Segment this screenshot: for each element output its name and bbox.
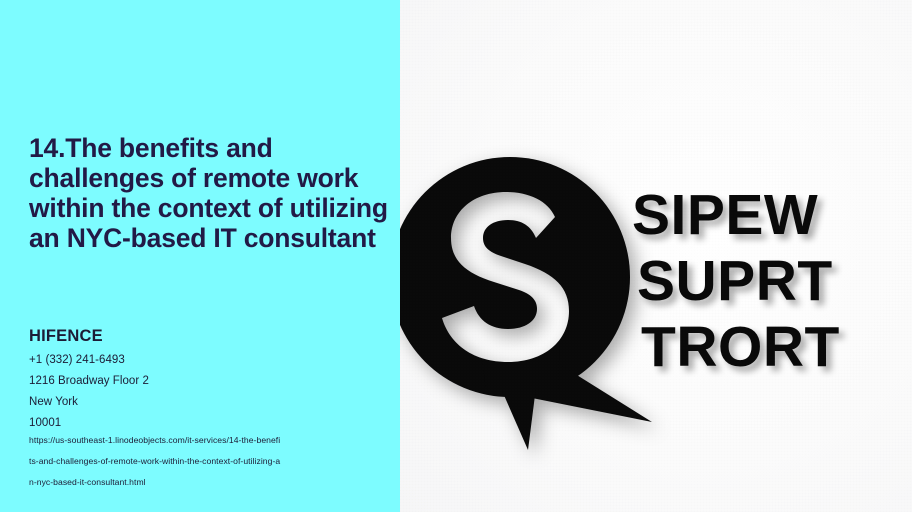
wordmark-line: SIPEW: [632, 182, 912, 248]
wordmark-line: TRORT: [641, 314, 912, 380]
promo-card: 14.The benefits and challenges of remote…: [0, 0, 912, 512]
article-url-line: https://us-southeast-1.linodeobjects.com…: [29, 430, 359, 451]
contact-block: HIFENCE +1 (332) 241-6493 1216 Broadway …: [29, 325, 389, 434]
right-logo-panel: SIPEW SUPRT TRORT: [400, 0, 912, 512]
speech-bubble-s-logo-icon: [400, 140, 660, 455]
page-title: 14.The benefits and challenges of remote…: [29, 133, 400, 253]
wordmark-line: SUPRT: [637, 248, 912, 314]
contact-phone: +1 (332) 241-6493: [29, 350, 389, 371]
left-info-panel: 14.The benefits and challenges of remote…: [0, 0, 400, 512]
article-url-line: ts-and-challenges-of-remote-work-within-…: [29, 451, 359, 472]
contact-city: New York: [29, 392, 389, 413]
logo-wordmark: SIPEW SUPRT TRORT: [632, 182, 912, 380]
contact-street: 1216 Broadway Floor 2: [29, 371, 389, 392]
brand-name: HIFENCE: [29, 325, 389, 347]
article-url-line: n-nyc-based-it-consultant.html: [29, 472, 359, 493]
article-url[interactable]: https://us-southeast-1.linodeobjects.com…: [29, 430, 359, 493]
